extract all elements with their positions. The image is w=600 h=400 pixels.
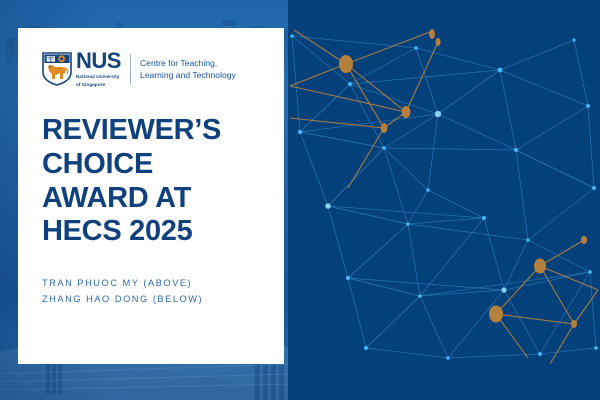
centre-name-line1: Centre for Teaching, (140, 57, 236, 69)
nus-wordmark-sub-line2: of Singapore (76, 82, 121, 88)
centre-name-line2: Learning and Technology (140, 69, 236, 81)
centre-name: Centre for Teaching, Learning and Techno… (140, 57, 236, 82)
poster: NUS National University of Singapore Cen… (0, 0, 600, 400)
nus-wordmark-text: NUS (76, 50, 121, 72)
headline-line-4: HECS 2025 (42, 215, 260, 249)
nus-wordmark: NUS National University of Singapore (76, 50, 121, 88)
right-panel (288, 0, 600, 400)
network-graphic-decoration (288, 28, 600, 368)
headline-line-2: CHOICE (42, 148, 260, 182)
awardee-name-1: TRAN PHUOC MY (ABOVE) (42, 275, 260, 291)
headline-line-1: REVIEWER’S (42, 114, 260, 148)
nus-wordmark-sub-line1: National University (76, 74, 121, 80)
content-card: NUS National University of Singapore Cen… (18, 28, 284, 364)
logo-divider (130, 54, 131, 84)
headline: REVIEWER’S CHOICE AWARD AT HECS 2025 (42, 114, 260, 249)
awardee-names: TRAN PHUOC MY (ABOVE) ZHANG HAO DONG (BE… (42, 275, 260, 308)
headline-line-3: AWARD AT (42, 182, 260, 216)
nus-crest-icon (42, 52, 72, 86)
awardee-name-2: ZHANG HAO DONG (BELOW) (42, 291, 260, 307)
nus-logo-lockup: NUS National University of Singapore Cen… (42, 50, 260, 88)
